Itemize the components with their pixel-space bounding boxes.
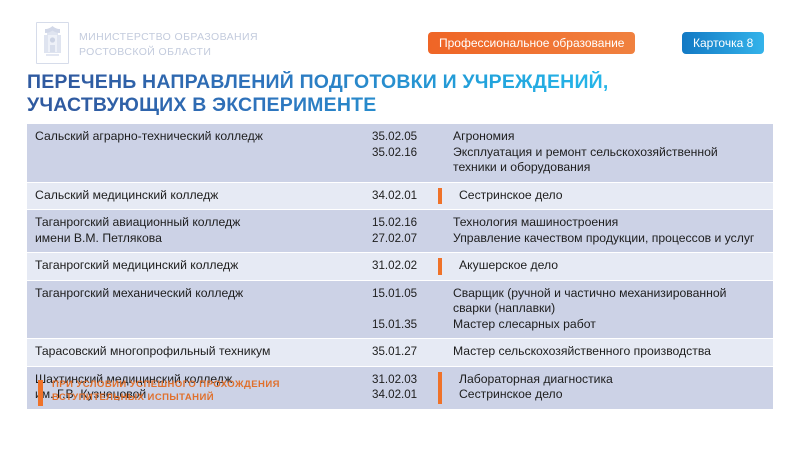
cell-marker bbox=[435, 183, 447, 210]
cell-marker bbox=[435, 281, 447, 339]
cell-institution: Сальский аграрно-технический колледж bbox=[27, 124, 372, 151]
cell-marker bbox=[435, 210, 447, 252]
table-row[interactable]: Таганрогский механический колледж 15.01.… bbox=[27, 281, 773, 340]
page-title-line2: УЧАСТВУЮЩИХ В ЭКСПЕРИМЕНТЕ bbox=[27, 94, 767, 117]
slide-header: МИНИСТЕРСТВО ОБРАЗОВАНИЯ РОСТОВСКОЙ ОБЛА… bbox=[0, 0, 800, 70]
table-row[interactable]: Сальский аграрно-технический колледж 35.… bbox=[27, 124, 773, 183]
cell-marker bbox=[435, 367, 447, 409]
cell-programs: Лабораторная диагностика Сестринское дел… bbox=[447, 367, 773, 409]
footnote-line1: ПРИ УСЛОВИИ УСПЕШНОГО ПРОХОЖДЕНИЯ bbox=[52, 379, 280, 392]
ministry-name: МИНИСТЕРСТВО ОБРАЗОВАНИЯ РОСТОВСКОЙ ОБЛА… bbox=[79, 29, 258, 58]
cell-institution: Таганрогский авиационный колледж имени В… bbox=[27, 210, 372, 252]
cell-institution: Тарасовский многопрофильный техникум bbox=[27, 339, 372, 366]
footnote-accent-bar bbox=[38, 380, 43, 406]
page-title: ПЕРЕЧЕНЬ НАПРАВЛЕНИЙ ПОДГОТОВКИ И УЧРЕЖД… bbox=[27, 71, 767, 117]
table-row[interactable]: Тарасовский многопрофильный техникум 35.… bbox=[27, 339, 773, 367]
cell-codes: 31.02.03 34.02.01 bbox=[372, 367, 435, 409]
cell-programs: Мастер сельскохозяйственного производств… bbox=[447, 339, 773, 366]
cell-programs: Технология машиностроения Управление кач… bbox=[447, 210, 773, 252]
cell-institution: Таганрогский медицинский колледж bbox=[27, 253, 372, 280]
ministry-logo: МИНИСТЕРСТВО ОБРАЗОВАНИЯ РОСТОВСКОЙ ОБЛА… bbox=[36, 22, 258, 64]
badge-category[interactable]: Профессиональное образование bbox=[428, 32, 635, 54]
page-title-line1: ПЕРЕЧЕНЬ НАПРАВЛЕНИЙ ПОДГОТОВКИ И УЧРЕЖД… bbox=[27, 71, 609, 93]
cell-codes: 15.02.16 27.02.07 bbox=[372, 210, 435, 252]
ministry-name-line2: РОСТОВСКОЙ ОБЛАСТИ bbox=[79, 46, 258, 58]
cell-marker bbox=[435, 124, 447, 182]
ministry-name-line1: МИНИСТЕРСТВО ОБРАЗОВАНИЯ bbox=[79, 31, 258, 43]
cell-codes: 35.01.27 bbox=[372, 339, 435, 366]
orange-marker-icon bbox=[438, 372, 442, 404]
cell-codes: 34.02.01 bbox=[372, 183, 435, 210]
cell-marker bbox=[435, 339, 447, 366]
cell-programs: Акушерское дело bbox=[447, 253, 773, 280]
cell-codes: 15.01.05 15.01.35 bbox=[372, 281, 435, 339]
cell-institution: Сальский медицинский колледж bbox=[27, 183, 372, 210]
cell-programs: Агрономия Эксплуатация и ремонт сельскох… bbox=[447, 124, 773, 182]
table-row[interactable]: Сальский медицинский колледж 34.02.01 Се… bbox=[27, 183, 773, 211]
codes-spacer bbox=[372, 301, 435, 317]
cell-codes: 31.02.02 bbox=[372, 253, 435, 280]
slide-root: МИНИСТЕРСТВО ОБРАЗОВАНИЯ РОСТОВСКОЙ ОБЛА… bbox=[0, 0, 800, 450]
table-row[interactable]: Таганрогский авиационный колледж имени В… bbox=[27, 210, 773, 253]
footnote: ПРИ УСЛОВИИ УСПЕШНОГО ПРОХОЖДЕНИЯ ВСТУПИ… bbox=[38, 379, 280, 406]
table-row[interactable]: Таганрогский медицинский колледж 31.02.0… bbox=[27, 253, 773, 281]
cell-codes: 35.02.05 35.02.16 bbox=[372, 124, 435, 166]
badge-card-number[interactable]: Карточка 8 bbox=[682, 32, 764, 54]
cell-programs: Сестринское дело bbox=[447, 183, 773, 210]
orange-marker-icon bbox=[438, 188, 442, 205]
footnote-text: ПРИ УСЛОВИИ УСПЕШНОГО ПРОХОЖДЕНИЯ ВСТУПИ… bbox=[52, 379, 280, 404]
coat-of-arms-icon bbox=[36, 22, 69, 64]
cell-institution: Таганрогский механический колледж bbox=[27, 281, 372, 308]
institutions-table: Сальский аграрно-технический колледж 35.… bbox=[27, 123, 773, 410]
cell-marker bbox=[435, 253, 447, 280]
footnote-line2: ВСТУПИТЕЛЬНЫХ ИСПЫТАНИЙ bbox=[52, 392, 280, 405]
orange-marker-icon bbox=[438, 258, 442, 275]
cell-programs: Сварщик (ручной и частично механизирован… bbox=[447, 281, 773, 339]
